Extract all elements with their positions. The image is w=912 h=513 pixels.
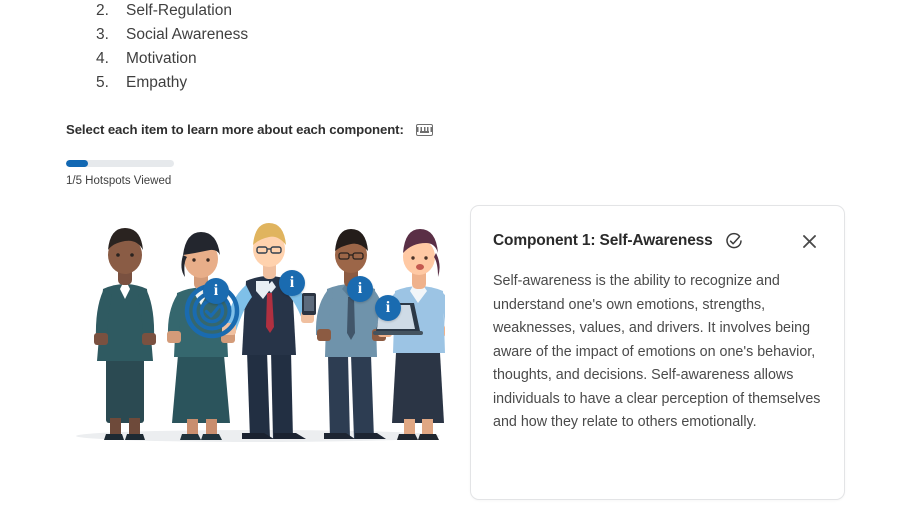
list-item-number: 2. xyxy=(96,2,126,20)
list-item-number: 5. xyxy=(96,74,126,92)
hotspot-4-info[interactable]: i xyxy=(347,276,373,302)
hotspot-2-info[interactable]: i xyxy=(203,278,229,304)
card-title: Component 1: Self-Awareness xyxy=(493,232,713,250)
instruction-row: Select each item to learn more about eac… xyxy=(66,122,433,137)
illustration-svg xyxy=(70,205,445,455)
instruction-text: Select each item to learn more about eac… xyxy=(66,122,404,137)
hotspot-5-info[interactable]: i xyxy=(375,295,401,321)
keyboard-icon[interactable] xyxy=(416,124,433,136)
list-item-label: Empathy xyxy=(126,74,187,92)
card-header: Component 1: Self-Awareness xyxy=(471,206,844,252)
check-circle-glyph xyxy=(725,232,743,250)
list-item: 4. Motivation xyxy=(96,50,496,74)
person-5 xyxy=(373,229,445,440)
progress-label: 1/5 Hotspots Viewed xyxy=(66,175,174,187)
progress-bar-track xyxy=(66,160,174,167)
component-list: 2. Self-Regulation 3. Social Awareness 4… xyxy=(96,2,496,98)
progress-section: 1/5 Hotspots Viewed xyxy=(66,160,174,187)
business-people-illustration: i i i i xyxy=(70,205,445,455)
list-item: 3. Social Awareness xyxy=(96,26,496,50)
info-icon: i xyxy=(214,283,218,299)
list-item-number: 3. xyxy=(96,26,126,44)
card-body-text: Self-awareness is the ability to recogni… xyxy=(471,252,844,435)
list-item: 2. Self-Regulation xyxy=(96,2,496,26)
info-icon: i xyxy=(386,300,390,316)
hotspot-3-info[interactable]: i xyxy=(279,270,305,296)
list-item-number: 4. xyxy=(96,50,126,68)
list-item: 5. Empathy xyxy=(96,74,496,98)
info-icon: i xyxy=(358,281,362,297)
list-item-label: Social Awareness xyxy=(126,26,248,44)
list-item-label: Self-Regulation xyxy=(126,2,232,20)
info-icon: i xyxy=(290,275,294,291)
person-1 xyxy=(94,228,156,440)
list-item-label: Motivation xyxy=(126,50,197,68)
close-glyph xyxy=(802,234,817,249)
check-circle-icon xyxy=(725,232,743,250)
component-detail-card: Component 1: Self-Awareness Self-awarene… xyxy=(470,205,845,500)
progress-bar-fill xyxy=(66,160,88,167)
close-icon[interactable] xyxy=(798,230,820,252)
